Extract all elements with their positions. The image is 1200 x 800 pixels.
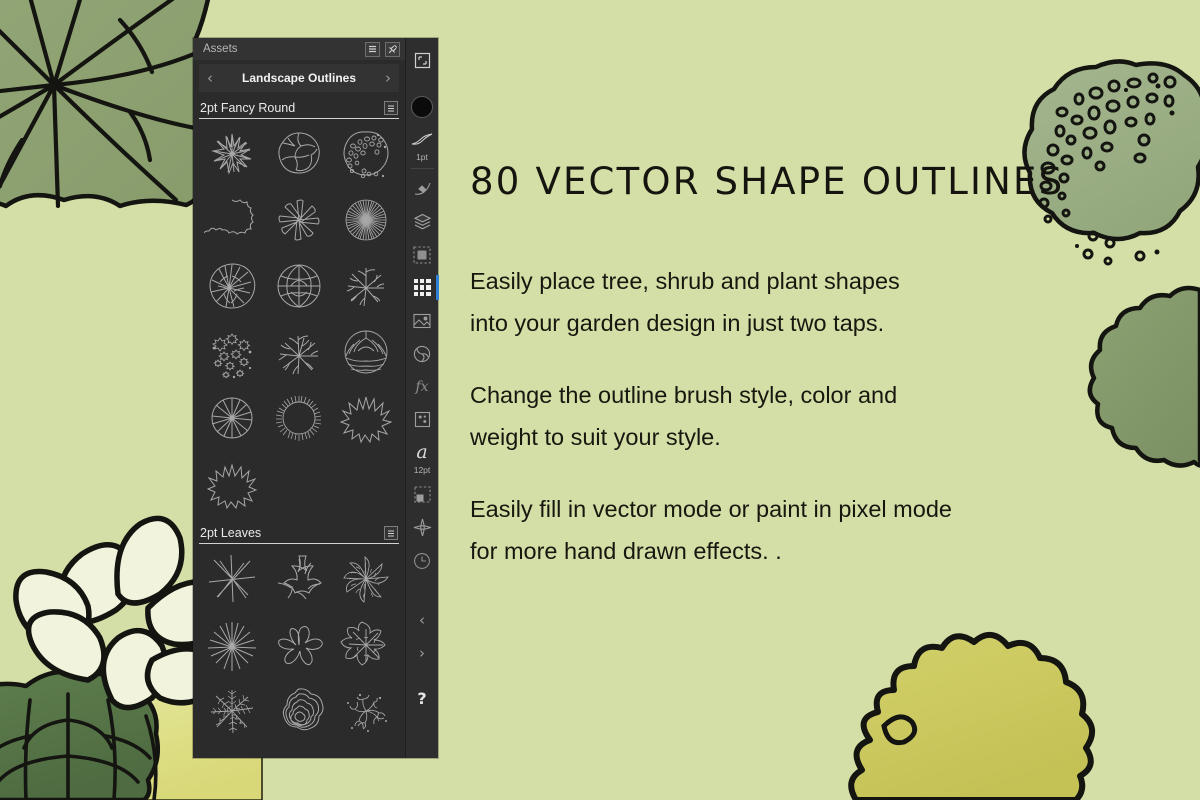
- asset-fancy-round-6[interactable]: [333, 187, 399, 253]
- color-swatch-chip: [411, 96, 433, 118]
- asset-fancy-round-15[interactable]: [333, 385, 399, 451]
- chevron-right-glyph: ›: [419, 644, 425, 662]
- color-wheel-glyph: [413, 345, 431, 363]
- divider: [411, 168, 434, 169]
- asset-leaves-3[interactable]: [333, 546, 399, 612]
- asset-fancy-round-8[interactable]: [266, 253, 332, 319]
- selection-glyph: [413, 246, 431, 264]
- menu-icon-glyph: [368, 45, 377, 53]
- pin-icon[interactable]: [385, 42, 400, 57]
- asset-group-header: 2pt Leaves: [199, 517, 399, 543]
- color-wheel-icon[interactable]: [406, 337, 439, 370]
- asset-fancy-round-4[interactable]: [199, 187, 265, 253]
- asset-fancy-round-13[interactable]: [199, 385, 265, 451]
- divider: [199, 543, 399, 544]
- question-mark-glyph: ?: [417, 689, 426, 708]
- assets-panel: Assets ‹ Landscape Outlines ›: [193, 38, 438, 758]
- promo-copy: 80 VECTOR SHAPE OUTLINES Easily place tr…: [470, 160, 1170, 572]
- divider: [199, 118, 399, 119]
- asset-group-leaves: 2pt Leaves: [193, 517, 405, 744]
- asset-leaves-4[interactable]: [199, 612, 265, 678]
- asset-leaves-6[interactable]: [333, 612, 399, 678]
- list-icon-glyph: [387, 105, 395, 112]
- list-icon[interactable]: [384, 101, 398, 115]
- snapping-icon[interactable]: [406, 511, 439, 544]
- assets-panel-titlebar: Assets: [193, 38, 405, 60]
- resize-panel-glyph: [414, 52, 431, 69]
- asset-leaves-1[interactable]: [199, 546, 265, 612]
- list-icon-glyph: [387, 530, 395, 537]
- palmate-leaf-top-left: [0, 0, 215, 206]
- brush-tool-icon[interactable]: [406, 172, 439, 205]
- layers-glyph: [413, 213, 432, 230]
- asset-fancy-round-11[interactable]: [266, 319, 332, 385]
- brush-tool-glyph: [413, 180, 432, 197]
- asset-fancy-round-7[interactable]: [199, 253, 265, 319]
- asset-fancy-round-10[interactable]: [199, 319, 265, 385]
- selection-icon[interactable]: [406, 238, 439, 271]
- asset-fancy-round-2[interactable]: [266, 121, 332, 187]
- assets-panel-title: Assets: [203, 43, 360, 55]
- asset-group-title: 2pt Fancy Round: [200, 101, 384, 115]
- adjustment-icon[interactable]: [406, 403, 439, 436]
- brush-stroke-icon[interactable]: [406, 123, 439, 156]
- asset-leaves-9[interactable]: [333, 678, 399, 744]
- brush-stroke-glyph: [411, 133, 433, 147]
- layers-icon[interactable]: [406, 205, 439, 238]
- chevron-left-icon[interactable]: ‹: [199, 71, 221, 86]
- effects-icon[interactable]: fx: [406, 370, 439, 403]
- asset-fancy-round-3[interactable]: [333, 121, 399, 187]
- image-icon[interactable]: [406, 304, 439, 337]
- asset-fancy-round-16[interactable]: [199, 451, 265, 517]
- asset-fancy-round-14[interactable]: [266, 385, 332, 451]
- history-clock-glyph: [413, 552, 431, 570]
- asset-fancy-round-9[interactable]: [333, 253, 399, 319]
- asset-leaves-7[interactable]: [199, 678, 265, 744]
- promo-paragraph-1: Easily place tree, shrub and plant shape…: [470, 260, 1170, 344]
- asset-thumbnail-grid-leaves: [199, 546, 399, 744]
- asset-leaves-5[interactable]: [266, 612, 332, 678]
- assets-grid-icon[interactable]: [406, 271, 439, 304]
- asset-set-navigator[interactable]: ‹ Landscape Outlines ›: [199, 64, 399, 92]
- chevron-left-glyph: ‹: [419, 611, 425, 629]
- snap-star-glyph: [413, 518, 432, 537]
- promo-paragraph-3: Easily fill in vector mode or paint in p…: [470, 488, 1170, 572]
- asset-thumbnail-grid-fancy-round: [199, 121, 399, 517]
- asset-group-fancy-round: 2pt Fancy Round: [193, 92, 405, 517]
- assets-panel-body: Assets ‹ Landscape Outlines ›: [193, 38, 405, 758]
- page-title: 80 VECTOR SHAPE OUTLINES: [470, 160, 1170, 203]
- expand-right-icon[interactable]: ›: [406, 636, 439, 669]
- promo-paragraph-2: Change the outline brush style, color an…: [470, 374, 1170, 458]
- fx-glyph: fx: [415, 379, 428, 395]
- asset-leaves-2[interactable]: [266, 546, 332, 612]
- pin-icon-glyph: [388, 44, 398, 54]
- grid-glyph: [414, 279, 431, 296]
- image-glyph: [413, 313, 431, 329]
- asset-leaves-8[interactable]: [266, 678, 332, 744]
- chevron-right-icon[interactable]: ›: [377, 71, 399, 86]
- adjustment-glyph: [414, 411, 431, 428]
- resize-panel-icon[interactable]: [406, 44, 439, 77]
- asset-group-title: 2pt Leaves: [200, 526, 384, 540]
- menu-icon[interactable]: [365, 42, 380, 57]
- tool-rail: 1pt: [405, 38, 438, 758]
- fill-tool-icon[interactable]: [406, 478, 439, 511]
- collapse-left-icon[interactable]: ‹: [406, 603, 439, 636]
- text-tool-icon[interactable]: a: [406, 436, 439, 469]
- help-icon[interactable]: ?: [406, 682, 439, 715]
- color-swatch[interactable]: [406, 90, 439, 123]
- asset-fancy-round-12[interactable]: [333, 319, 399, 385]
- asset-set-name[interactable]: Landscape Outlines: [221, 71, 377, 85]
- history-icon[interactable]: [406, 544, 439, 577]
- list-icon[interactable]: [384, 526, 398, 540]
- asset-group-header: 2pt Fancy Round: [199, 92, 399, 118]
- asset-fancy-round-5[interactable]: [266, 187, 332, 253]
- fill-glyph: [414, 486, 431, 503]
- text-a-glyph: a: [416, 443, 427, 462]
- asset-fancy-round-1[interactable]: [199, 121, 265, 187]
